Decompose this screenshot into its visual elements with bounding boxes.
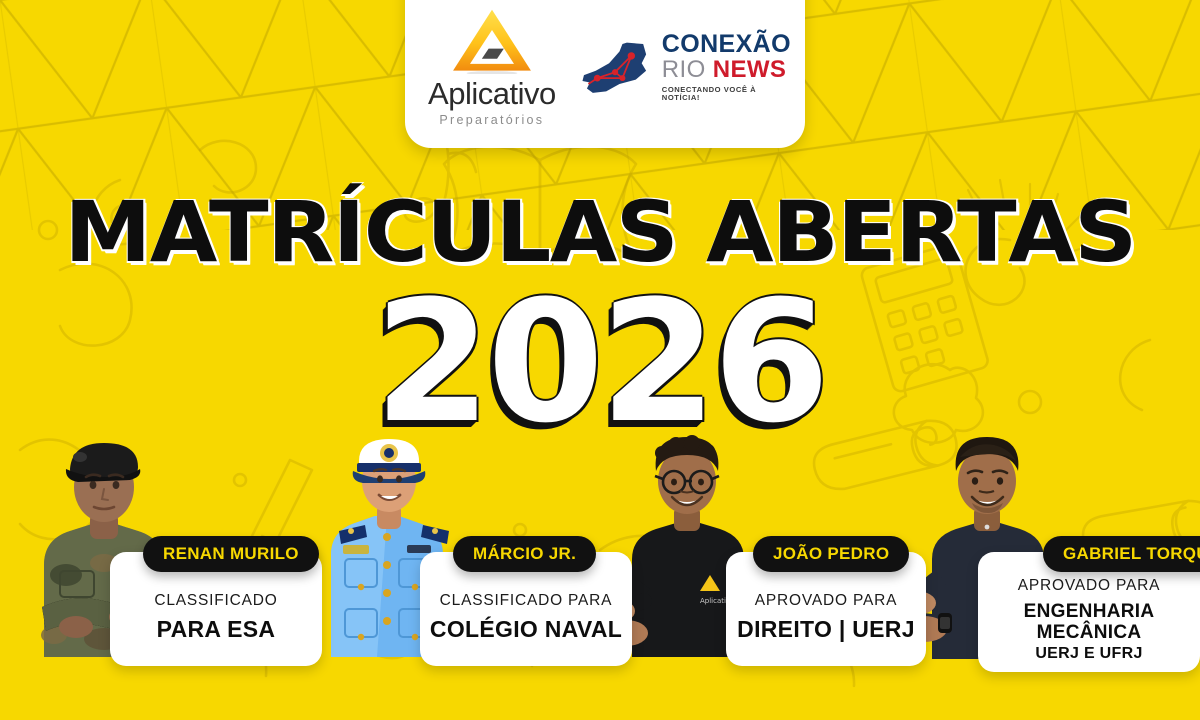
news-word: NEWS [713, 56, 787, 83]
card-line1: APROVADO PARA [755, 592, 897, 610]
card-line1: APROVADO PARA [1018, 577, 1160, 595]
name-pill-marcio-jr: MÁRCIO JR. [453, 536, 596, 572]
card-line2: ENGENHARIA MECÂNICA [978, 602, 1200, 644]
student-name: MÁRCIO JR. [473, 544, 576, 564]
card-line2: DIREITO | UERJ [737, 617, 915, 642]
card-line2: PARA ESA [157, 617, 276, 642]
year-text: 2026 [374, 278, 826, 446]
logo-card: Aplicativo Preparatórios CONEXÃO [405, 0, 805, 148]
aplicativo-logo: Aplicativo Preparatórios [419, 8, 565, 127]
card-line2: COLÉGIO NAVAL [430, 617, 622, 642]
conexao-line: CONEXÃO [662, 32, 791, 57]
card-line1: CLASSIFICADO PARA [440, 592, 613, 610]
headline-year: 2026 [0, 278, 1200, 446]
conexao-rio-news-logo: CONEXÃO RIO NEWS CONECTANDO VOCÊ À NOTÍC… [581, 32, 791, 101]
rio-state-map-icon [581, 39, 655, 95]
aplicativo-tagline: Preparatórios [439, 113, 544, 127]
conexao-tagline: CONECTANDO VOCÊ À NOTÍCIA! [662, 86, 791, 101]
student-name: RENAN MURILO [163, 544, 299, 564]
name-pill-gabriel-torquato: GABRIEL TORQUATO [1043, 536, 1200, 572]
student-name: GABRIEL TORQUATO [1063, 544, 1200, 564]
student-name: JOÃO PEDRO [773, 544, 889, 564]
rio-word: RIO [662, 56, 706, 83]
headline-matriculas-abertas: MATRÍCULAS ABERTAS [0, 192, 1200, 273]
headline-text: MATRÍCULAS ABERTAS [64, 192, 1135, 273]
triangle-logo-icon [449, 8, 535, 74]
card-line3: UERJ E UFRJ [1035, 645, 1142, 663]
name-pill-joao-pedro: JOÃO PEDRO [753, 536, 909, 572]
rio-news-line: RIO NEWS [662, 58, 791, 82]
aplicativo-wordmark: Aplicativo [428, 78, 556, 109]
students-row: RENAN MURILO CLASSIFICADO PARA ESA [0, 430, 1200, 720]
name-pill-renan-murilo: RENAN MURILO [143, 536, 319, 572]
card-line1: CLASSIFICADO [154, 592, 277, 610]
promotional-banner: Aplicativo Preparatórios CONEXÃO [0, 0, 1200, 720]
